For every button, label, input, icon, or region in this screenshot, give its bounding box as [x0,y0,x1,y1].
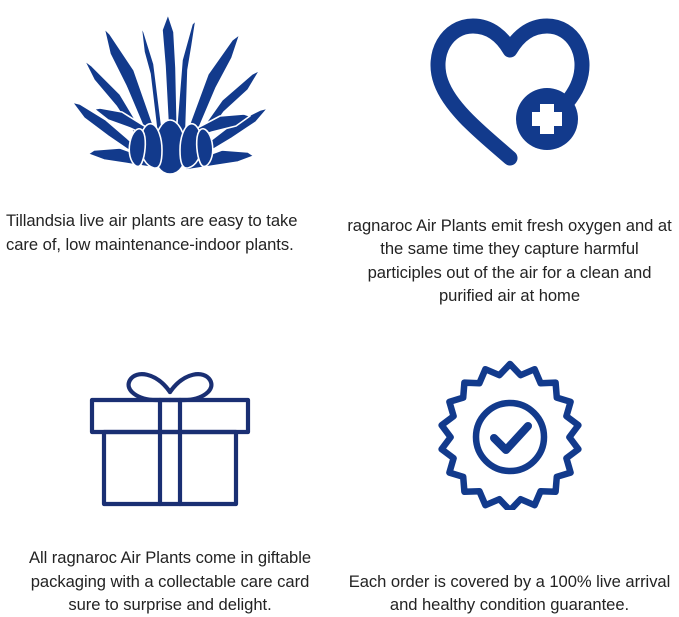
feature-card-giftable-packaging: All ragnaroc Air Plants come in giftable… [0,308,340,617]
feature-card-live-arrival-guarantee: Each order is covered by a 100% live arr… [340,308,679,617]
air-plant-icon [0,0,340,188]
feature-caption: Tillandsia live air plants are easy to t… [0,209,340,256]
feature-caption: Each order is covered by a 100% live arr… [340,570,679,617]
feature-card-fresh-oxygen: ragnaroc Air Plants emit fresh oxygen an… [340,0,679,308]
verified-badge-icon [340,308,679,541]
feature-caption: ragnaroc Air Plants emit fresh oxygen an… [340,214,679,308]
feature-caption: All ragnaroc Air Plants come in giftable… [0,546,340,617]
feature-card-easy-care: Tillandsia live air plants are easy to t… [0,0,340,308]
gift-box-icon [0,308,340,517]
feature-grid: Tillandsia live air plants are easy to t… [0,0,679,617]
heart-plus-icon [340,0,679,191]
